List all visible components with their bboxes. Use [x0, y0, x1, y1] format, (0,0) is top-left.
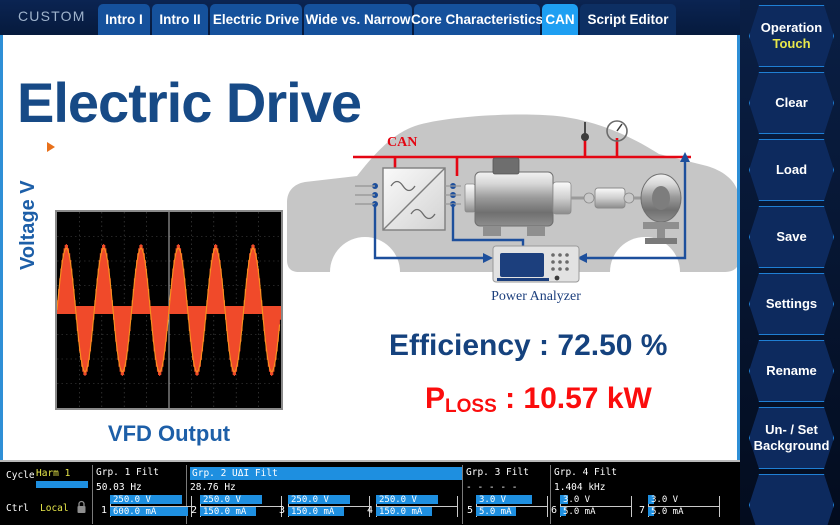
scope-panel: Voltage V — [55, 210, 283, 410]
group-frequency-3: - - - - - — [466, 482, 517, 493]
softkey-sidebar: OperationTouchClearLoadSaveSettingsRenam… — [740, 0, 840, 525]
softkey-clear[interactable]: Clear — [749, 72, 834, 134]
channel-readout-4[interactable]: 250.0 V150.0 mA — [376, 495, 458, 517]
softkey-label: Un- / Set Background — [750, 422, 833, 455]
tab-script-editor[interactable]: Script Editor — [580, 4, 676, 35]
group-frequency-2: 28.76 Hz — [190, 482, 236, 493]
cycle-value[interactable]: Harm 1 — [36, 468, 70, 479]
ctrl-label: Ctrl — [6, 503, 29, 514]
status-divider — [92, 465, 93, 524]
scope-display[interactable] — [55, 210, 283, 410]
channel-voltage-value: 3.0 V — [651, 495, 678, 505]
tab-wide-vs-narrow[interactable]: Wide vs. Narrow — [304, 4, 412, 35]
softkey-sublabel: Touch — [772, 36, 810, 52]
channel-readout-7[interactable]: 3.0 V5.0 mA — [648, 495, 720, 517]
instrument-screen: CUSTOM Intro IIntro IIElectric DriveWide… — [0, 0, 840, 525]
softkey-label: Clear — [775, 95, 808, 111]
group-header-4[interactable]: Grp. 4 Filt — [554, 467, 617, 478]
channel-current-value: 5.0 mA — [563, 507, 596, 517]
softkey-operation[interactable]: OperationTouch — [749, 5, 834, 67]
softkey-un-set-background[interactable]: Un- / Set Background — [749, 407, 834, 469]
status-bar: Cycle Harm 1 Ctrl Local Grp. 1 Filt50.03… — [0, 460, 740, 525]
ctrl-value[interactable]: Local — [40, 503, 69, 514]
channel-current-value: 150.0 mA — [291, 507, 334, 517]
softkey-empty-7[interactable] — [749, 474, 834, 525]
waveform-svg — [57, 212, 281, 408]
main-canvas: Electric Drive — [0, 35, 740, 460]
phase-terminals-in — [355, 183, 378, 207]
ploss-separator: : — [497, 382, 524, 415]
softkey-label: Operation — [761, 20, 822, 36]
channel-voltage-value: 250.0 V — [203, 495, 241, 505]
group-frequency-4: 1.404 kHz — [554, 482, 605, 493]
softkey-rename[interactable]: Rename — [749, 340, 834, 402]
cycle-bar — [36, 481, 88, 488]
power-analyzer-label: Power Analyzer — [491, 289, 581, 304]
channel-readout-2[interactable]: 250.0 V150.0 mA — [200, 495, 282, 517]
ploss-value: 10.57 kW — [523, 382, 651, 415]
can-label: CAN — [387, 135, 417, 150]
channel-number-6: 6 — [551, 505, 557, 516]
group-header-3[interactable]: Grp. 3 Filt — [466, 467, 529, 478]
tab-bar: CUSTOM Intro IIntro IIElectric DriveWide… — [0, 0, 740, 35]
efficiency-value: 72.50 % — [557, 329, 667, 362]
softkey-label: Save — [776, 229, 806, 245]
inverter-icon — [383, 168, 445, 230]
electric-drive-diagram: CAN — [287, 110, 739, 325]
channel-number-1: 1 — [101, 505, 107, 516]
trigger-marker-icon — [47, 142, 55, 152]
efficiency-label: Efficiency : — [389, 329, 557, 362]
status-divider — [462, 465, 463, 524]
channel-number-7: 7 — [639, 505, 645, 516]
scope-caption: VFD Output — [55, 421, 283, 447]
group-frequency-1: 50.03 Hz — [96, 482, 142, 493]
channel-voltage-value: 3.0 V — [479, 495, 506, 505]
channel-readout-3[interactable]: 250.0 V150.0 mA — [288, 495, 370, 517]
power-loss-readout: PLOSS : 10.57 kW — [425, 382, 652, 416]
lock-icon — [76, 500, 87, 514]
softkey-label: Rename — [766, 363, 817, 379]
channel-number-3: 3 — [279, 505, 285, 516]
group-header-2[interactable]: Grp. 2 UΔI Filt — [190, 467, 462, 480]
channel-number-5: 5 — [467, 505, 473, 516]
scope-y-axis-label: Voltage V — [17, 150, 40, 270]
channel-number-4: 4 — [367, 505, 373, 516]
channel-readout-1[interactable]: 250.0 V600.0 mA — [110, 495, 192, 517]
softkey-label: Settings — [766, 296, 817, 312]
channel-voltage-value: 250.0 V — [113, 495, 151, 505]
channel-current-value: 5.0 mA — [651, 507, 684, 517]
tab-can[interactable]: CAN — [542, 4, 578, 35]
tab-intro-ii[interactable]: Intro II — [152, 4, 208, 35]
efficiency-readout: Efficiency : 72.50 % — [389, 329, 667, 363]
tab-electric-drive[interactable]: Electric Drive — [210, 4, 302, 35]
channel-current-value: 150.0 mA — [203, 507, 246, 517]
cycle-label: Cycle — [6, 470, 35, 481]
channel-readout-6[interactable]: 3.0 V5.0 mA — [560, 495, 632, 517]
softkey-settings[interactable]: Settings — [749, 273, 834, 335]
softkey-load[interactable]: Load — [749, 139, 834, 201]
channel-voltage-value: 250.0 V — [291, 495, 329, 505]
channel-current-value: 600.0 mA — [113, 507, 156, 517]
channel-voltage-value: 250.0 V — [379, 495, 417, 505]
channel-readout-5[interactable]: 3.0 V5.0 mA — [476, 495, 548, 517]
ploss-subscript: LOSS — [445, 396, 497, 417]
channel-voltage-value: 3.0 V — [563, 495, 590, 505]
group-header-1[interactable]: Grp. 1 Filt — [96, 467, 159, 478]
channel-number-2: 2 — [191, 505, 197, 516]
phase-terminals-out — [445, 183, 461, 207]
channel-current-value: 5.0 mA — [479, 507, 512, 517]
softkey-save[interactable]: Save — [749, 206, 834, 268]
softkey-label: Load — [776, 162, 807, 178]
power-analyzer-icon — [493, 246, 579, 282]
channel-current-value: 150.0 mA — [379, 507, 422, 517]
custom-label: CUSTOM — [18, 8, 86, 24]
tab-core-characteristics[interactable]: Core Characteristics — [414, 4, 540, 35]
ploss-symbol: P — [425, 382, 445, 415]
tab-intro-i[interactable]: Intro I — [98, 4, 150, 35]
